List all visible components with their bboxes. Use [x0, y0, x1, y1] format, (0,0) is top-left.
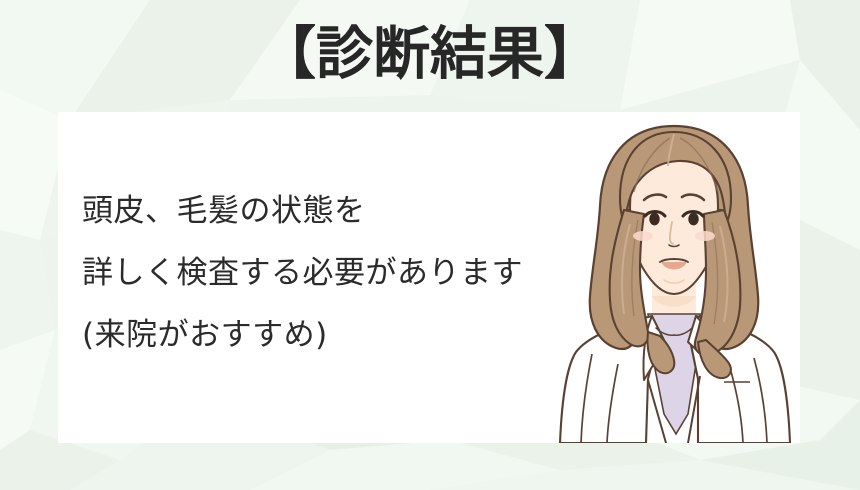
result-message: 頭皮、毛髪の状態を 詳しく検査する必要があります (来院がおすすめ)	[82, 180, 582, 366]
result-message-line-3: (来院がおすすめ)	[82, 304, 582, 366]
cheek-left	[633, 231, 653, 241]
eye-pupil-left	[649, 213, 659, 226]
female-doctor-illustration	[548, 114, 800, 443]
eye-pupil-right	[688, 213, 698, 226]
page-title: 【診断結果】	[0, 18, 860, 90]
diagnosis-result-card-screen: 【診断結果】 頭皮、毛髪の状態を 詳しく検査する必要があります (来院がおすすめ…	[0, 0, 860, 490]
result-message-line-1: 頭皮、毛髪の状態を	[82, 180, 582, 242]
result-card: 頭皮、毛髪の状態を 詳しく検査する必要があります (来院がおすすめ)	[58, 112, 800, 443]
cheek-right	[695, 231, 715, 241]
result-message-line-2: 詳しく検査する必要があります	[82, 242, 582, 304]
